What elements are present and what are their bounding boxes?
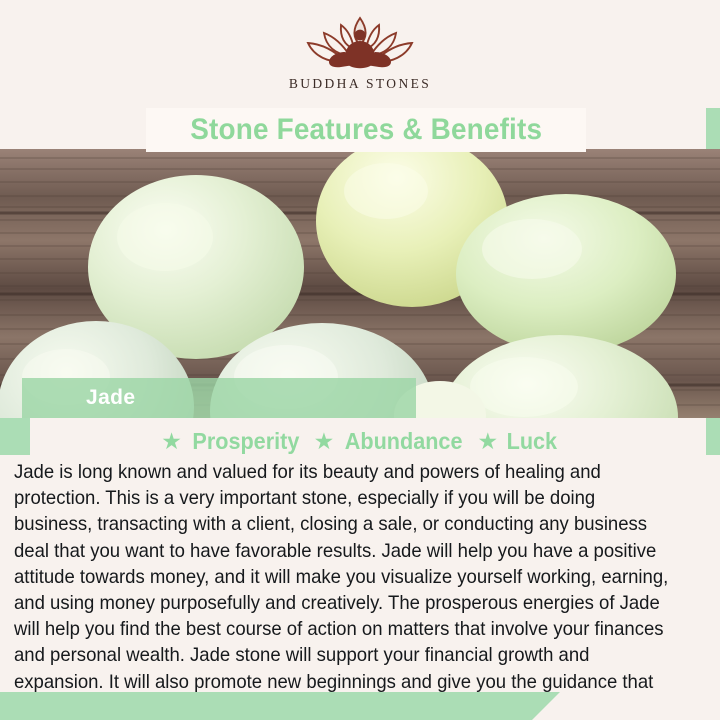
benefit-label: Prosperity bbox=[192, 428, 299, 455]
infographic-page: Jade BUDDHA STONES Stone F bbox=[0, 0, 720, 720]
brand-name: BUDDHA STONES bbox=[289, 76, 431, 92]
star-icon: ★ bbox=[314, 430, 335, 453]
benefit-item: ★ Prosperity bbox=[161, 428, 302, 455]
description-paragraph: Jade is long known and valued for its be… bbox=[14, 459, 675, 720]
stone-name-text: Jade bbox=[86, 386, 135, 410]
benefit-label: Abundance bbox=[345, 428, 463, 455]
brand-header: BUDDHA STONES bbox=[0, 0, 720, 108]
star-icon: ★ bbox=[161, 430, 182, 453]
benefit-item: ★ Abundance bbox=[314, 428, 467, 455]
title-banner: Stone Features & Benefits bbox=[146, 108, 586, 152]
lotus-meditation-icon bbox=[296, 12, 424, 74]
page-title: Stone Features & Benefits bbox=[190, 113, 542, 147]
benefit-item: ★ Luck bbox=[477, 428, 558, 455]
decor-green-bottom-bar bbox=[0, 692, 560, 720]
benefit-label: Luck bbox=[507, 428, 557, 455]
benefits-row: ★ Prosperity ★ Abundance ★ Luck bbox=[0, 428, 720, 455]
star-icon: ★ bbox=[477, 430, 498, 453]
stone-name-label: Jade bbox=[22, 378, 416, 418]
